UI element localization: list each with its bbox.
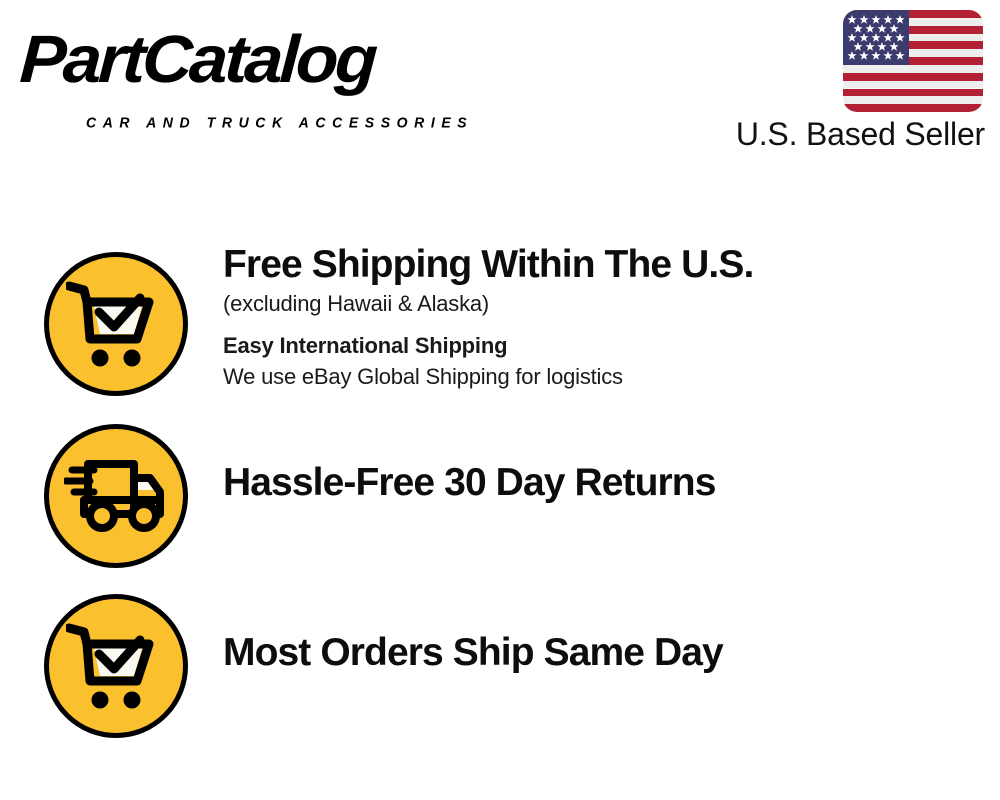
delivery-truck-icon [44,424,188,568]
feature-headline: Most Orders Ship Same Day [223,630,983,676]
feature-headline: Hassle-Free 30 Day Returns [223,460,983,506]
feature-subheadline: Easy International Shipping [223,331,983,361]
feature-subtext: We use eBay Global Shipping for logistic… [223,362,983,392]
feature-row: Hassle-Free 30 Day Returns [0,412,1000,572]
feature-text-block: Most Orders Ship Same Day [223,630,983,676]
feature-row: Free Shipping Within The U.S. (excluding… [0,240,1000,410]
feature-list: Free Shipping Within The U.S. (excluding… [0,0,1000,800]
shopping-cart-check-icon [44,594,188,738]
shopping-cart-check-icon [44,252,188,396]
feature-note: (excluding Hawaii & Alaska) [223,289,983,319]
feature-text-block: Free Shipping Within The U.S. (excluding… [223,242,983,392]
feature-text-block: Hassle-Free 30 Day Returns [223,460,983,506]
feature-headline: Free Shipping Within The U.S. [223,242,983,288]
feature-row: Most Orders Ship Same Day [0,582,1000,742]
